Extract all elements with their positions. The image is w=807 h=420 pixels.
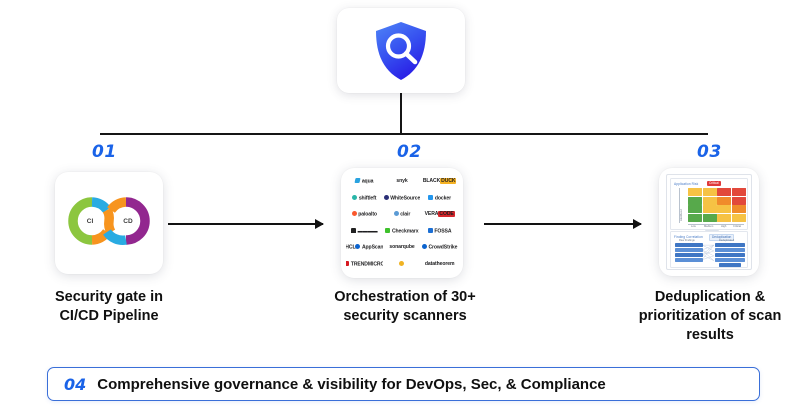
matrix-x-tick-0: Low [691,225,696,228]
matrix-x-tick-3: Critical [733,225,741,228]
devops-infinity-loop-icon: CI CD [66,195,152,252]
arrow-step1-to-step2 [168,223,323,225]
caption-step-3-line-3: results [612,326,807,345]
raw-finding-bar [675,248,703,252]
step-number-01: 01 [92,142,117,162]
banner-step-number-04: 04 [64,375,86,394]
logo-whitesource: WhiteSource [384,191,421,207]
caption-step-3-line-1: Deduplication & [612,288,807,307]
caption-step-2-line-2: security scanners [295,307,515,326]
caption-step-3: Deduplication & prioritization of scan r… [612,288,807,345]
loop-label-cd: CD [123,218,133,225]
dedup-finding-bar [715,253,745,257]
dedup-finding-bar [715,258,745,262]
logo-bulb-vendor [384,257,421,273]
logo-shiftleft: shiftleft [346,191,383,207]
connector-stem [400,93,402,134]
logo-veracode: VERACODE [421,207,458,223]
hero-shield-card [337,8,465,93]
connector-rail [100,133,708,135]
scanner-logo-grid: aqua snyk BLACKDUCK shiftleft WhiteSourc… [346,174,458,272]
risk-dashboard-icon: Application Risk Critical Low Medium Hig… [666,174,752,270]
governance-banner: 04 Comprehensive governance & visibility… [47,367,760,401]
arrow-step2-to-step3 [484,223,641,225]
logo-hcl-appscan: HCLAppScan [346,240,383,256]
dashboard-panel-correlation: Finding Correlation Deduplication Raw Fi… [670,231,748,268]
diagram-canvas: 01 02 03 [0,0,807,420]
shield-search-icon [374,21,428,81]
caption-step-1-line-1: Security gate in [8,288,210,307]
panel-title-application-risk: Application Risk [674,182,698,186]
logo-clair: clair [384,207,421,223]
caption-step-1-line-2: CI/CD Pipeline [8,307,210,326]
matrix-x-tick-1: Medium [704,225,713,228]
logo-docker: docker [421,191,458,207]
matrix-y-axis-label: Likelihood [680,209,683,221]
logo-sonarqube: sonarqube [384,240,421,256]
risk-matrix-heatmap [688,188,746,222]
step-card-dedup-dashboard: Application Risk Critical Low Medium Hig… [659,168,759,276]
logo-fossa: FOSSA [421,224,458,240]
step-card-scanner-orchestration: aqua snyk BLACKDUCK shiftleft WhiteSourc… [341,168,463,278]
step-card-cicd-pipeline: CI CD [55,172,163,274]
raw-finding-bar [675,243,703,247]
banner-text: Comprehensive governance & visibility fo… [97,376,606,393]
caption-step-3-line-2: prioritization of scan [612,307,807,326]
logo-paloalto: paloalto [346,207,383,223]
logo-snyk: snyk [384,174,421,190]
panel-badge-critical: Critical [707,181,721,186]
step-number-03: 03 [697,142,722,162]
caption-step-2: Orchestration of 30+ security scanners [295,288,515,326]
logo-blackduck: BLACKDUCK [421,174,458,190]
raw-finding-bar [675,258,703,262]
caption-step-2-line-1: Orchestration of 30+ [295,288,515,307]
loop-label-ci: CI [87,218,94,225]
dedup-finding-bar [715,243,745,247]
raw-finding-bar [675,253,703,257]
dedup-finding-bar [719,263,741,267]
logo-checkmarx: Checkmarx [384,224,421,240]
logo-data-theorem: datatheorem [421,257,458,273]
logo-trendmicro: TRENDMICRO [346,257,383,273]
caption-step-1: Security gate in CI/CD Pipeline [8,288,210,326]
dashboard-panel-risk-matrix: Application Risk Critical Low Medium Hig… [670,178,748,230]
step-number-02: 02 [397,142,422,162]
logo-aqua: aqua [346,174,383,190]
logo-lock-vendor: ▬▬▬▬ [346,224,383,240]
dedup-finding-bar [715,248,745,252]
logo-crowdstrike: CrowdStrike [421,240,458,256]
matrix-x-tick-2: High [721,225,726,228]
